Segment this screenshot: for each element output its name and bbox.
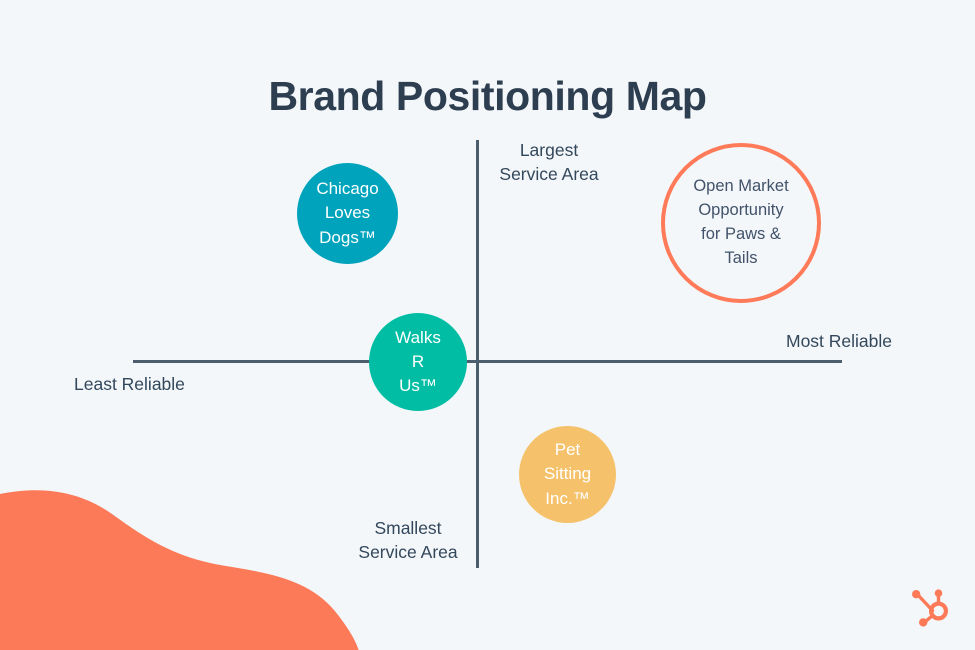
bubble-label: Walks R Us™ (391, 326, 445, 398)
hubspot-sprocket-logo (908, 586, 952, 630)
axis-label-smallest-service-area: Smallest Service Area (348, 517, 468, 564)
bubble-label: Open Market Opportunity for Paws & Tails (689, 175, 792, 271)
vertical-axis-line (476, 140, 479, 568)
bubble-chicago-loves-dogs[interactable]: Chicago Loves Dogs™ (297, 163, 398, 264)
bubble-label: Chicago Loves Dogs™ (312, 177, 382, 249)
axis-label-largest-service-area: Largest Service Area (489, 139, 609, 186)
axis-label-least-reliable: Least Reliable (74, 373, 185, 397)
bubble-pet-sitting-inc[interactable]: Pet Sitting Inc.™ (519, 426, 616, 523)
bubble-walks-r-us[interactable]: Walks R Us™ (369, 313, 467, 411)
bubble-label: Pet Sitting Inc.™ (540, 438, 595, 510)
axis-label-most-reliable: Most Reliable (786, 330, 892, 354)
bubble-open-market-opportunity[interactable]: Open Market Opportunity for Paws & Tails (661, 143, 821, 303)
page-title: Brand Positioning Map (0, 74, 975, 119)
brand-positioning-map-canvas: Brand Positioning Map Largest Service Ar… (0, 0, 975, 650)
decorative-blob (0, 470, 400, 650)
horizontal-axis-line (133, 360, 842, 363)
